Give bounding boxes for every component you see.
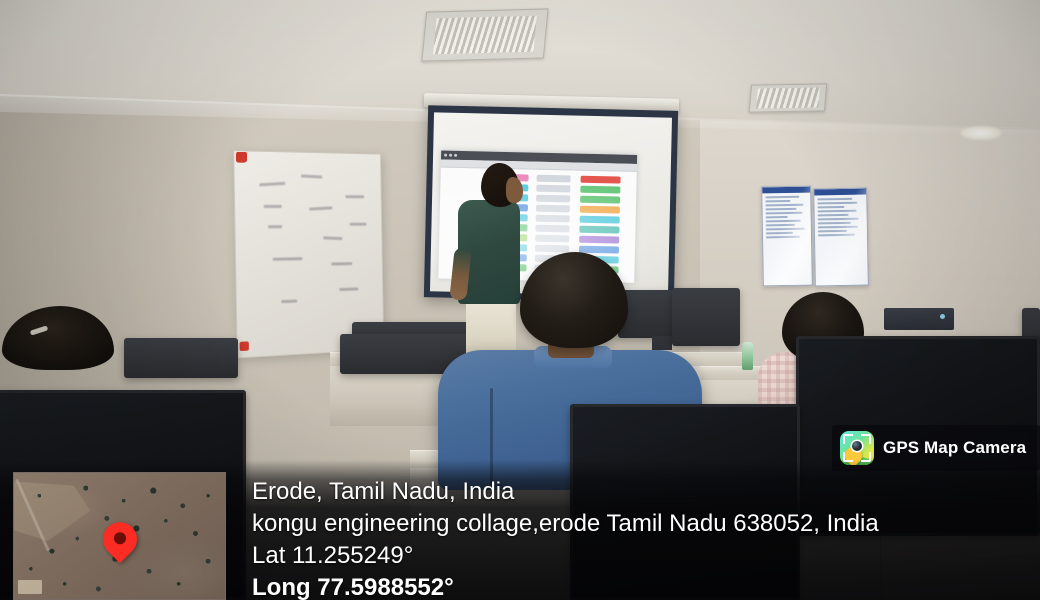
equipment-led-icon — [940, 314, 945, 319]
whiteboard-writing — [339, 287, 358, 291]
code-block — [580, 216, 620, 224]
monitor-back-row-3 — [672, 288, 740, 346]
ceiling-vent-secondary-icon — [749, 83, 828, 112]
whiteboard-writing — [331, 262, 352, 265]
notice-board-left — [761, 186, 813, 287]
whiteboard-clip-icon — [240, 341, 249, 351]
monitor-stand — [652, 336, 672, 350]
gps-details-text: Erode, Tamil Nadu, India kongu engineeri… — [252, 476, 952, 600]
code-block — [536, 195, 570, 203]
ceiling-light-icon — [960, 126, 1002, 140]
code-block — [535, 225, 569, 233]
presenter-face — [506, 177, 523, 203]
whiteboard-writing — [273, 257, 303, 261]
gps-longitude-line: Long 77.5988552° — [252, 572, 952, 600]
whiteboard-writing — [268, 225, 282, 228]
notice-glare — [814, 189, 868, 286]
vent-slats — [756, 88, 820, 109]
satellite-map-thumbnail — [13, 472, 226, 600]
code-block — [580, 196, 620, 204]
whiteboard-writing — [259, 182, 285, 187]
map-building — [18, 580, 42, 594]
whiteboard-writing — [281, 300, 297, 304]
pin-hole — [114, 532, 126, 544]
code-block — [580, 176, 620, 184]
gps-latitude-line: Lat 11.255249° — [252, 540, 952, 572]
code-block — [579, 226, 619, 234]
notice-board-right — [813, 188, 869, 287]
monitor-back-row-5 — [124, 338, 238, 378]
frame-bracket-icon — [861, 434, 871, 444]
window-dot-icon — [444, 154, 447, 157]
whiteboard-writing — [323, 236, 342, 240]
code-block — [536, 205, 570, 213]
code-block — [580, 186, 620, 194]
frame-bracket-icon — [843, 434, 853, 444]
whiteboard-marker-clip-icon — [236, 152, 247, 162]
gps-city-line: Erode, Tamil Nadu, India — [252, 476, 952, 508]
whiteboard-writing — [345, 195, 364, 198]
gps-map-camera-brand-label: GPS Map Camera — [883, 438, 1026, 458]
whiteboard-writing — [301, 174, 322, 178]
notice-glare — [762, 187, 812, 286]
code-block — [580, 206, 620, 214]
vent-slats — [433, 15, 538, 54]
water-bottle-icon — [742, 342, 753, 370]
whiteboard-writing — [350, 223, 367, 226]
whiteboard-writing — [309, 206, 332, 210]
code-block — [537, 175, 571, 183]
whiteboard-writing — [264, 205, 282, 208]
lab-equipment-box — [884, 308, 954, 330]
map-location-pin-icon — [103, 522, 137, 556]
window-dot-icon — [449, 154, 452, 157]
ceiling-vent-main-icon — [421, 8, 548, 61]
gps-address-line: kongu engineering collage,erode Tamil Na… — [252, 508, 952, 540]
code-block — [579, 236, 619, 244]
window-dot-icon — [454, 154, 457, 157]
code-block — [535, 245, 569, 253]
code-block — [535, 235, 569, 243]
code-block — [536, 185, 570, 193]
code-block — [536, 215, 570, 223]
gps-map-camera-photo: GPS Map Camera Erode, Tamil Nadu, India … — [0, 0, 1040, 600]
